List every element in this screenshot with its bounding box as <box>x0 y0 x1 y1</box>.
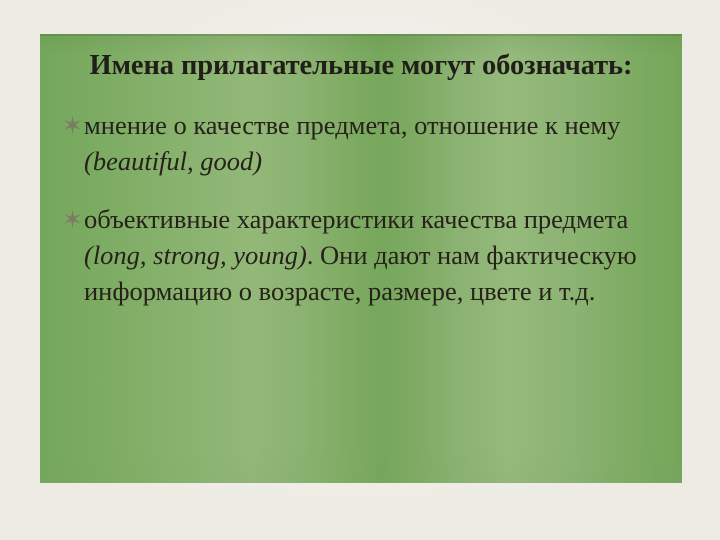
list-item-text: мнение о качестве предмета, отношение к … <box>84 110 620 176</box>
slide-canvas: Имена прилагательные могут обозначать: ✶… <box>0 0 720 540</box>
star-bullet-icon: ✶ <box>62 204 82 238</box>
list-item-text-normal: объективные характеристики качества пред… <box>84 204 628 234</box>
list-item-text: объективные характеристики качества пред… <box>84 204 637 306</box>
list-item-text-normal: мнение о качестве предмета, отношение к … <box>84 110 620 140</box>
list-item: ✶ объективные характеристики качества пр… <box>62 202 660 310</box>
list-item-term-italic: (long, strong, young) <box>84 240 307 270</box>
star-bullet-icon: ✶ <box>62 110 82 144</box>
panel-inner: Имена прилагательные могут обозначать: ✶… <box>40 34 682 310</box>
bullet-list: ✶ мнение о качестве предмета, отношение … <box>62 108 660 310</box>
content-panel: Имена прилагательные могут обозначать: ✶… <box>40 34 682 483</box>
list-item: ✶ мнение о качестве предмета, отношение … <box>62 108 660 180</box>
page-title: Имена прилагательные могут обозначать: <box>62 48 660 84</box>
list-item-term-italic: (beautiful, good) <box>84 146 262 176</box>
